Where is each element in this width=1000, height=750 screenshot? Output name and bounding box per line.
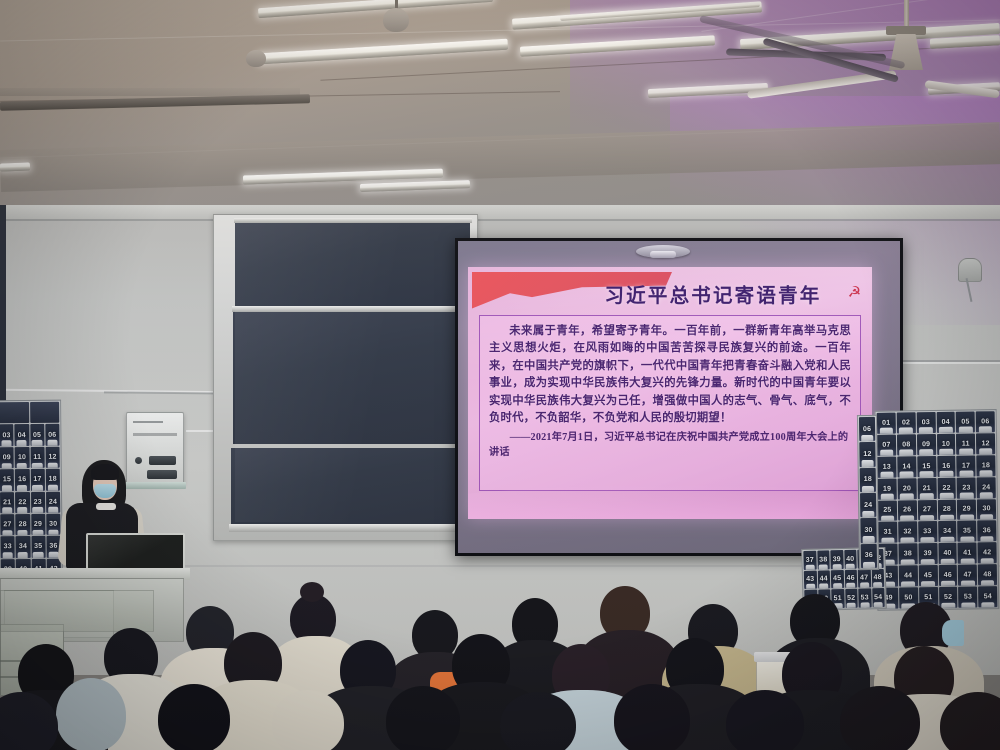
phone-pocket-number: 03 (922, 419, 930, 426)
panel-line (133, 421, 163, 423)
phone-pocket[interactable]: 13 (877, 456, 896, 477)
phone-pocket[interactable]: 19 (878, 478, 897, 499)
phone-pocket-number: 32 (903, 529, 911, 536)
phone-pocket[interactable]: 21 (917, 478, 936, 499)
phone-pocket[interactable]: 11 (30, 447, 44, 469)
phone-pocket-number: 17 (962, 462, 970, 469)
phone-pocket-number: 47 (964, 572, 972, 579)
phone-pocket-number: 30 (49, 521, 57, 528)
phone-pocket-number: 15 (922, 463, 930, 470)
phone-pocket-number: 06 (48, 431, 56, 438)
slide-source-text: ——2021年7月1日，习近平总书记在庆祝中国共产党成立100周年大会上的讲话 (489, 430, 851, 460)
phone-pocket[interactable]: 29 (957, 499, 976, 520)
phone-pocket-number: 33 (923, 528, 931, 535)
phone-pocket[interactable]: 03 (916, 412, 935, 433)
slide-body-inner: 未来属于青年，希望寄予青年。一百年前，一群新青年高举马克思主义思想火炬，在风雨如… (489, 325, 851, 424)
phone-pocket-number: 08 (902, 441, 910, 448)
phone-pocket-number: 38 (904, 551, 912, 558)
phone-pocket-number: 05 (961, 418, 969, 425)
hammer-and-sickle-icon: ☭ (846, 284, 863, 301)
phone-pocket-number: 18 (982, 462, 990, 469)
phone-pocket[interactable]: 27 (0, 514, 14, 536)
presenter-hair (91, 464, 119, 480)
phone-pocket[interactable]: 23 (31, 491, 45, 513)
blackboard-rail (229, 524, 472, 532)
phone-pocket-number: 12 (48, 454, 56, 461)
phone-pocket[interactable]: 39 (918, 543, 937, 564)
audience-head (56, 678, 126, 750)
panel-shelf (122, 482, 186, 489)
audience-head (386, 686, 460, 750)
audience-head (726, 690, 804, 750)
phone-pocket[interactable]: 24 (46, 491, 60, 513)
phone-pocket-number: 35 (34, 543, 42, 550)
phone-pocket[interactable]: 18 (46, 469, 60, 491)
rack-header-cell (30, 402, 60, 424)
phone-pocket-number: 16 (18, 476, 26, 483)
phone-pocket-number: 02 (902, 419, 910, 426)
phone-pocket-number: 12 (863, 451, 871, 458)
phone-pocket-number: 22 (942, 484, 950, 491)
phone-pocket-number: 18 (49, 476, 57, 483)
phone-pocket[interactable]: 30 (860, 518, 876, 543)
audience-hair-bun (300, 582, 324, 602)
phone-pocket[interactable]: 06 (45, 424, 59, 446)
phone-pocket[interactable]: 12 (976, 433, 995, 454)
phone-pocket-number: 23 (34, 499, 42, 506)
phone-pocket-number: 29 (34, 521, 42, 528)
phone-pocket[interactable]: 16 (15, 469, 29, 491)
phone-pocket-number: 36 (983, 528, 991, 535)
phone-pocket-number: 48 (983, 571, 991, 578)
phone-pocket-number: 18 (864, 476, 872, 483)
phone-pocket-number: 35 (963, 528, 971, 535)
projection-surface: 习近平总书记寄语青年 ☭ 未来属于青年，希望寄予青年。一百年前，一群新青年高举马… (458, 241, 900, 553)
phone-pocket[interactable]: 01 (877, 413, 896, 434)
phone-pocket-number: 24 (864, 502, 872, 509)
phone-pocket[interactable]: 06 (859, 417, 875, 442)
phone-pocket[interactable]: 20 (897, 478, 916, 499)
phone-pocket[interactable]: 08 (897, 434, 916, 455)
phone-pocket-number: 15 (3, 477, 11, 484)
phone-pocket-number: 45 (924, 572, 932, 579)
audience-head (614, 684, 690, 750)
phone-pocket[interactable]: 25 (878, 500, 897, 521)
phone-pocket[interactable]: 21 (0, 492, 14, 514)
phone-storage-rack-side-column[interactable]: 061218243036 (857, 415, 879, 570)
slide-body-text: 未来属于青年，希望寄予青年。一百年前，一群新青年高举马克思主义思想火炬，在风雨如… (489, 323, 851, 427)
phone-pocket[interactable]: 36 (861, 544, 877, 569)
phone-pocket[interactable]: 12 (859, 442, 875, 467)
phone-pocket[interactable]: 05 (956, 411, 975, 432)
phone-pocket[interactable]: 05 (30, 424, 44, 446)
projector-lens-icon (650, 251, 676, 258)
phone-pocket-number: 23 (962, 484, 970, 491)
phone-pocket-number: 04 (942, 419, 950, 426)
speaker-icon (958, 258, 982, 282)
phone-pocket-number: 34 (19, 543, 27, 550)
phone-pocket[interactable]: 40 (938, 543, 957, 564)
phone-pocket[interactable]: 28 (15, 514, 29, 536)
phone-pocket-number: 39 (924, 550, 932, 557)
phone-pocket[interactable]: 22 (937, 477, 956, 498)
phone-pocket[interactable]: 33 (918, 521, 937, 542)
phone-pocket[interactable]: 27 (918, 500, 937, 521)
audience-head (840, 686, 920, 750)
ceiling-fan-mount (886, 26, 926, 35)
phone-pocket-number: 28 (943, 506, 951, 513)
phone-pocket[interactable]: 15 (917, 456, 936, 477)
phone-pocket-number: 44 (904, 573, 912, 580)
phone-pocket-number: 07 (882, 441, 890, 448)
panel-buttons[interactable] (147, 470, 177, 479)
phone-pocket[interactable]: 16 (937, 456, 956, 477)
phone-pocket[interactable]: 22 (15, 492, 29, 514)
phone-pocket-number: 33 (4, 544, 12, 551)
phone-pocket-number: 11 (33, 454, 41, 461)
audience-head (272, 690, 344, 750)
phone-pocket-number: 14 (902, 463, 910, 470)
phone-pocket[interactable]: 09 (917, 434, 936, 455)
phone-pocket-number: 36 (49, 543, 57, 550)
phone-pocket-number: 11 (962, 440, 970, 447)
wall-control-panel[interactable] (126, 412, 184, 484)
phone-pocket[interactable]: 30 (46, 514, 60, 536)
phone-pocket-number: 38 (819, 556, 827, 563)
phone-pocket[interactable]: 38 (898, 544, 917, 565)
panel-display (149, 456, 176, 465)
phone-pocket[interactable]: 14 (897, 456, 916, 477)
audience-head (158, 684, 230, 750)
phone-pocket-number: 01 (882, 420, 890, 427)
phone-pocket[interactable]: 04 (15, 424, 29, 446)
seated-audience (0, 580, 1000, 750)
phone-pocket-number: 12 (982, 440, 990, 447)
phone-pocket[interactable]: 17 (30, 469, 44, 491)
phone-pocket-number: 16 (942, 463, 950, 470)
phone-pocket-number: 10 (18, 454, 26, 461)
face-mask-icon (942, 620, 964, 646)
phone-pocket-number: 24 (982, 484, 990, 491)
phone-pocket[interactable]: 18 (860, 468, 876, 493)
phone-pocket[interactable]: 37 (803, 551, 816, 570)
phone-pocket[interactable]: 41 (958, 543, 977, 564)
phone-pocket-number: 30 (982, 506, 990, 513)
phone-pocket[interactable]: 31 (878, 522, 897, 543)
phone-pocket-number: 39 (833, 556, 841, 563)
fluorescent-tube-icon (0, 162, 30, 171)
phone-pocket-number: 27 (3, 521, 11, 528)
presentation-slide: 习近平总书记寄语青年 ☭ 未来属于青年，希望寄予青年。一百年前，一群新青年高举马… (468, 267, 872, 519)
phone-pocket[interactable]: 06 (976, 411, 995, 432)
phone-pocket-number: 21 (923, 485, 931, 492)
phone-pocket[interactable]: 34 (938, 521, 957, 542)
phone-pocket[interactable]: 30 (977, 499, 996, 520)
phone-pocket-number: 26 (903, 507, 911, 514)
audience-head (500, 692, 576, 750)
phone-pocket-number: 27 (923, 507, 931, 514)
phone-pocket[interactable]: 29 (31, 514, 45, 536)
phone-pocket[interactable]: 12 (45, 446, 59, 468)
phone-pocket[interactable]: 26 (898, 500, 917, 521)
phone-pocket-number: 05 (33, 431, 41, 438)
panel-knob[interactable] (135, 457, 142, 464)
phone-pocket[interactable]: 42 (978, 543, 997, 564)
phone-pocket-number: 25 (883, 507, 891, 514)
phone-storage-rack-left[interactable]: 0304050609101112151617182122232427282930… (0, 400, 63, 583)
phone-pocket-number: 31 (884, 529, 892, 536)
phone-pocket-number: 06 (981, 418, 989, 425)
phone-pocket[interactable]: 10 (15, 447, 29, 469)
phone-pocket[interactable]: 10 (936, 434, 955, 455)
phone-pocket[interactable]: 24 (860, 493, 876, 518)
phone-pocket-number: 13 (883, 463, 891, 470)
phone-pocket-number: 20 (903, 485, 911, 492)
phone-pocket[interactable]: 15 (0, 469, 14, 491)
phone-pocket-number: 46 (944, 572, 952, 579)
phone-pocket-number: 19 (883, 485, 891, 492)
phone-pocket-number: 42 (983, 550, 991, 557)
phone-pocket[interactable]: 38 (817, 550, 830, 569)
wall-trim (0, 205, 1000, 219)
phone-pocket[interactable]: 35 (31, 536, 45, 558)
phone-pocket-number: 17 (33, 476, 41, 483)
ceiling-fan-pole (904, 0, 909, 28)
phone-pocket-number: 37 (806, 557, 814, 564)
phone-pocket[interactable]: 34 (16, 536, 30, 558)
wall-line (900, 362, 1000, 364)
phone-pocket-number: 34 (943, 528, 951, 535)
phone-pocket[interactable]: 18 (976, 455, 995, 476)
phone-pocket[interactable]: 40 (844, 550, 857, 569)
blackboard-sheen (235, 222, 470, 522)
phone-pocket[interactable]: 35 (957, 521, 976, 542)
phone-pocket-number: 40 (846, 556, 854, 563)
phone-pocket[interactable]: 09 (0, 447, 14, 469)
ceiling-sensor-icon (246, 50, 266, 67)
phone-pocket[interactable]: 23 (957, 477, 976, 498)
phone-pocket-number: 22 (18, 499, 26, 506)
slide-title: 习近平总书记寄语青年 (588, 279, 838, 308)
phone-pocket-number: 10 (942, 441, 950, 448)
phone-pocket[interactable]: 32 (898, 522, 917, 543)
phone-pocket-number: 24 (49, 498, 57, 505)
phone-pocket-number: 29 (963, 506, 971, 513)
phone-pocket[interactable]: 11 (956, 433, 975, 454)
phone-pocket-number: 09 (3, 454, 11, 461)
phone-pocket[interactable]: 36 (977, 521, 996, 542)
phone-pocket-number: 04 (18, 432, 26, 439)
phone-pocket-number: 03 (2, 432, 10, 439)
wall-line (0, 219, 1000, 221)
phone-pocket-number: 06 (863, 426, 871, 433)
phone-pocket[interactable]: 02 (896, 412, 915, 433)
phone-pocket-number: 09 (922, 441, 930, 448)
phone-pocket[interactable]: 03 (0, 425, 14, 447)
phone-pocket-number: 21 (3, 499, 11, 506)
phone-pocket[interactable]: 07 (877, 434, 896, 455)
panel-label (133, 433, 177, 436)
projection-screen: 习近平总书记寄语青年 ☭ 未来属于青年，希望寄予青年。一百年前，一群新青年高举马… (455, 238, 903, 556)
lecture-hall-photo: 习近平总书记寄语青年 ☭ 未来属于青年，希望寄予青年。一百年前，一群新青年高举马… (0, 0, 1000, 750)
phone-pocket[interactable]: 33 (0, 536, 14, 558)
slide-text-box: 未来属于青年，希望寄予青年。一百年前，一群新青年高举马克思主义思想火炬，在风雨如… (479, 315, 861, 491)
phone-pocket[interactable]: 17 (957, 455, 976, 476)
phone-pocket-number: 41 (963, 550, 971, 557)
rack-header-cell (0, 402, 29, 424)
ceiling-sensor-icon (383, 8, 409, 32)
phone-pocket[interactable]: 04 (936, 412, 955, 433)
phone-pocket-number: 30 (864, 527, 872, 534)
phone-pocket[interactable]: 39 (830, 550, 843, 569)
slide-wave-decoration (468, 485, 872, 519)
phone-pocket[interactable]: 28 (937, 499, 956, 520)
phone-pocket-number: 28 (19, 521, 27, 528)
phone-pocket[interactable]: 24 (977, 477, 996, 498)
presenter-collar (96, 503, 116, 510)
phone-pocket-number: 40 (943, 550, 951, 557)
phone-pocket-number: 36 (865, 552, 873, 559)
